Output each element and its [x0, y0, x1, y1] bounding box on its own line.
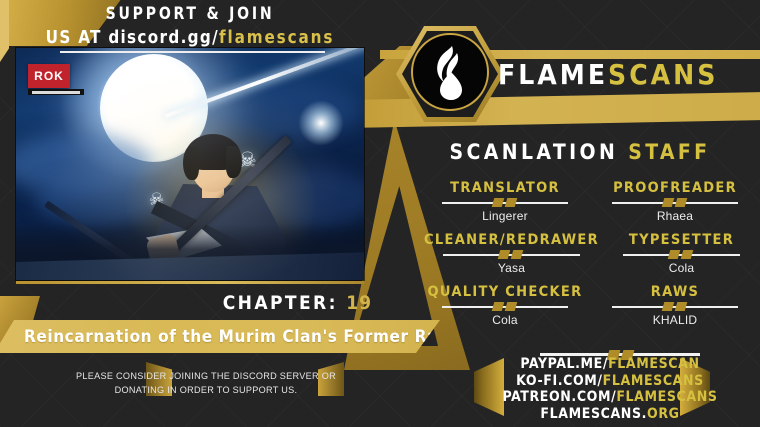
staff-credit-typesetter: TYPESETTER Cola	[603, 232, 760, 275]
staff-person: Cola	[607, 261, 756, 275]
support-line-2: US AT discord.gg/flamescans	[11, 27, 368, 48]
staff-divider	[612, 198, 738, 207]
staff-credits-grid: TRANSLATOR Lingerer PROOFREADER Rhaea CL…	[420, 180, 760, 327]
link-kofi-path: FLAMESCANS	[603, 373, 704, 389]
link-kofi-domain: KO-FI.COM/	[516, 373, 603, 389]
staff-person: Cola	[424, 313, 586, 327]
staff-credit-proofreader: PROOFREADER Rhaea	[590, 180, 760, 223]
staff-role: CLEANER/REDRAWER	[424, 232, 599, 248]
publisher-badge: ROK	[28, 64, 70, 88]
staff-row: QUALITY CHECKER Cola RAWS KHALID	[420, 284, 760, 327]
staff-person: KHALID	[594, 313, 756, 327]
staff-credit-cleaner-redrawer: CLEANER/REDRAWER Yasa	[420, 232, 603, 275]
staff-heading: SCANLATION STAFF	[400, 140, 760, 164]
credits-page: SUPPORT & JOIN US AT discord.gg/flamesca…	[0, 0, 760, 427]
flame-icon	[426, 44, 474, 102]
staff-person: Yasa	[424, 261, 599, 275]
footnote-line-1: PLEASE CONSIDER JOINING THE DISCORD SERV…	[8, 370, 404, 384]
brand-wordmark: FLAMESCANS	[498, 58, 718, 91]
support-line-1: SUPPORT & JOIN	[15, 4, 365, 24]
brand-flame: FLAME	[498, 58, 608, 91]
link-paypal-domain: PAYPAL.ME/	[520, 356, 608, 372]
support-links-list: PAYPAL.ME/FLAMESCAN KO-FI.COM/FLAMESCANS…	[460, 356, 760, 422]
cover-underline	[16, 281, 364, 284]
staff-divider	[442, 302, 568, 311]
staff-role: TRANSLATOR	[424, 180, 586, 196]
chapter-cover-image: ☠ ☠ ROK	[16, 48, 364, 280]
link-website[interactable]: FLAMESCANS.ORG	[460, 406, 760, 423]
staff-credit-quality-checker: QUALITY CHECKER Cola	[420, 284, 590, 327]
link-paypal[interactable]: PAYPAL.ME/FLAMESCAN	[460, 356, 760, 373]
discord-url-prefix: US AT discord.gg/	[46, 27, 219, 48]
staff-heading-staff: STAFF	[628, 140, 710, 164]
footnote-text: PLEASE CONSIDER JOINING THE DISCORD SERV…	[8, 370, 404, 398]
staff-person: Lingerer	[424, 209, 586, 223]
staff-credit-raws: RAWS KHALID	[590, 284, 760, 327]
link-patreon[interactable]: PATREON.COM/FLAMESCANS	[460, 389, 760, 406]
link-patreon-path: FLAMESCANS	[616, 389, 717, 405]
staff-role: RAWS	[594, 284, 756, 300]
staff-role: QUALITY CHECKER	[424, 284, 586, 300]
link-website-tld: ORG	[647, 406, 680, 422]
link-website-domain: FLAMESCANS.	[540, 406, 647, 422]
link-kofi[interactable]: KO-FI.COM/FLAMESCANS	[460, 373, 760, 390]
staff-role: TYPESETTER	[607, 232, 756, 248]
series-title: Reincarnation of the Murim Clan's Former…	[24, 327, 479, 347]
discord-url-handle[interactable]: flamescans	[219, 27, 334, 48]
chapter-number: 19	[346, 292, 372, 314]
publisher-badge-label: ROK	[34, 69, 64, 83]
staff-divider	[443, 250, 579, 259]
staff-credit-translator: TRANSLATOR Lingerer	[420, 180, 590, 223]
support-underline	[60, 51, 325, 53]
staff-person: Rhaea	[594, 209, 756, 223]
link-paypal-path: FLAMESCAN	[608, 356, 700, 372]
staff-divider	[612, 302, 738, 311]
chapter-heading: CHAPTER: 19	[0, 292, 372, 314]
staff-divider	[623, 250, 739, 259]
staff-role: PROOFREADER	[594, 180, 756, 196]
support-banner: SUPPORT & JOIN US AT discord.gg/flamesca…	[0, 4, 380, 48]
brand-scans: SCANS	[608, 58, 718, 91]
staff-divider	[442, 198, 568, 207]
link-patreon-domain: PATREON.COM/	[502, 389, 616, 405]
series-title-banner: Reincarnation of the Murim Clan's Former…	[0, 320, 440, 353]
staff-heading-scanlation: SCANLATION	[449, 140, 618, 164]
staff-row: TRANSLATOR Lingerer PROOFREADER Rhaea	[420, 180, 760, 223]
publisher-badge-subbar	[28, 89, 84, 95]
footnote-line-2: DONATING IN ORDER TO SUPPORT US.	[8, 384, 404, 398]
chapter-label: CHAPTER:	[223, 292, 338, 314]
staff-row: CLEANER/REDRAWER Yasa TYPESETTER Cola	[420, 232, 760, 275]
